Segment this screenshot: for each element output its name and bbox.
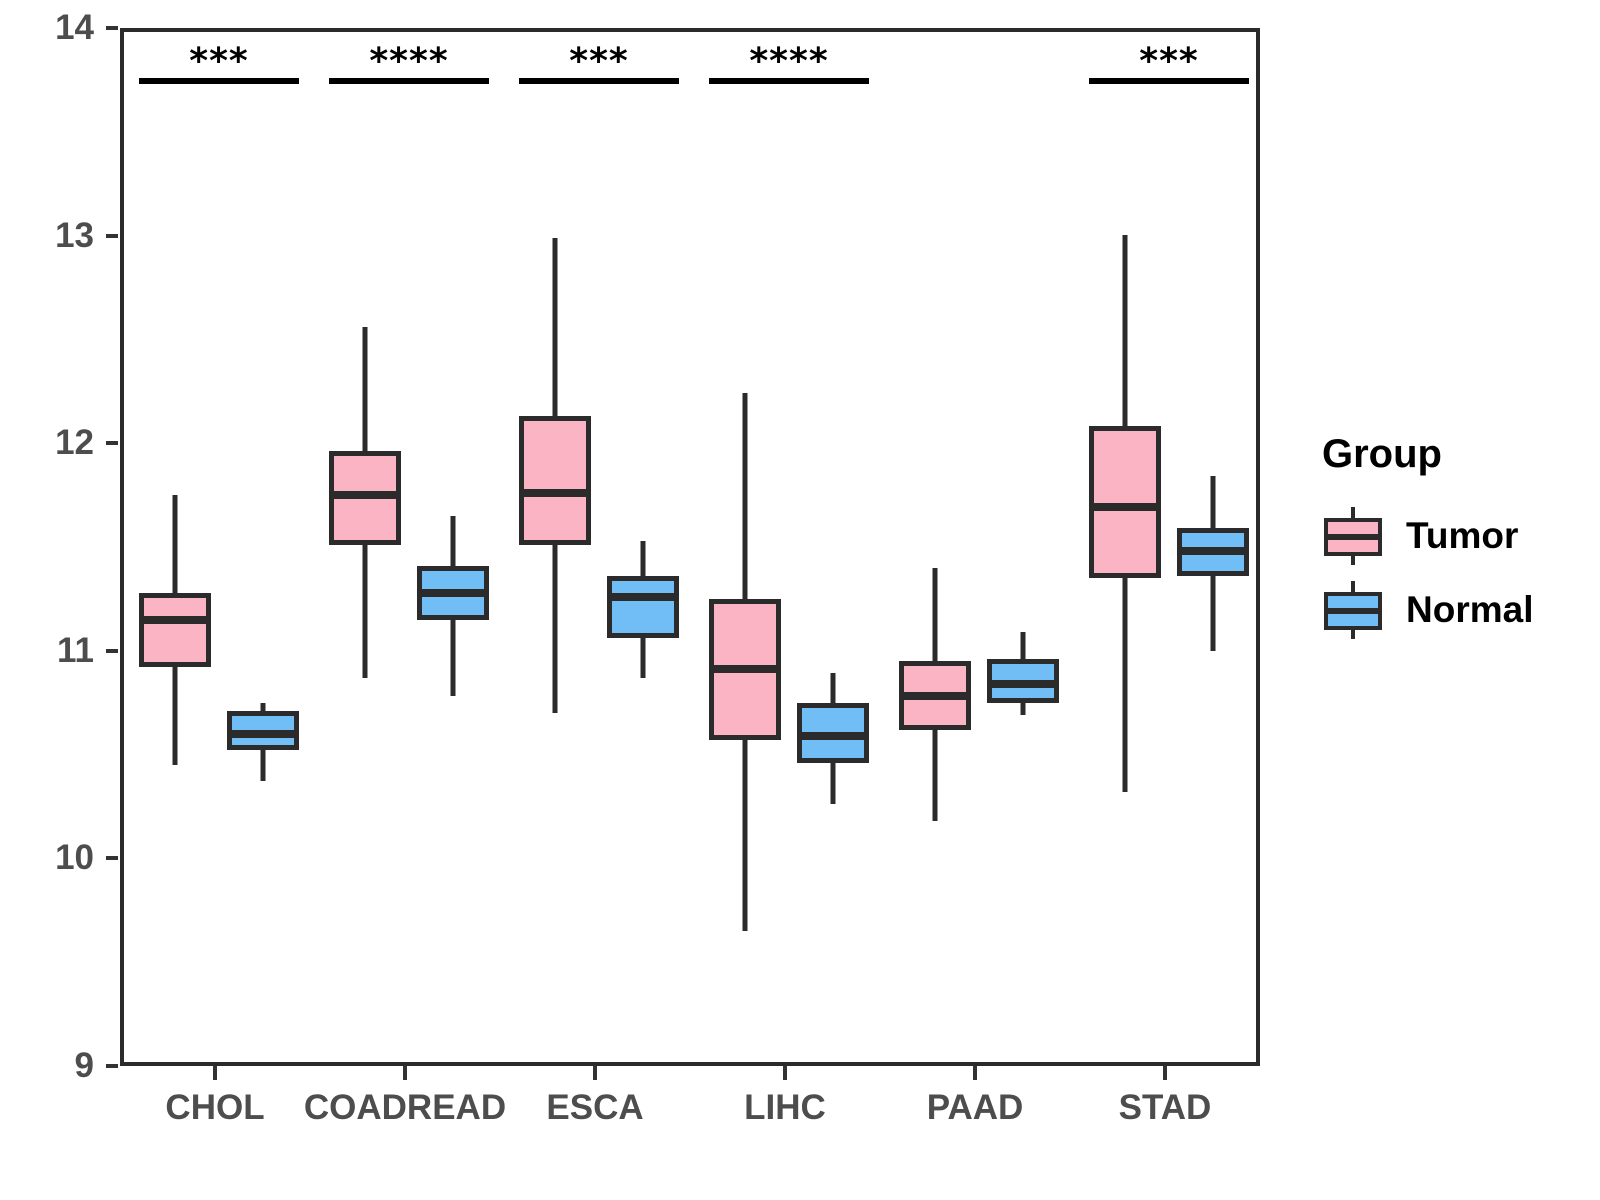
x-tick-mark [593,1066,597,1080]
x-tick-label-lihc: LIHC [744,1088,826,1128]
y-tick-label: 12 [36,423,94,463]
x-tick-mark [403,1066,407,1080]
y-tick-label: 11 [36,631,94,671]
x-tick-label-stad: STAD [1119,1088,1212,1128]
y-tick-mark [106,649,118,653]
legend: Group Tumor Normal [1322,432,1592,647]
legend-key-normal [1322,579,1384,641]
plot-panel: ***************** [120,28,1260,1066]
y-tick-label: 13 [36,216,94,256]
y-tick-mark [106,1064,118,1068]
legend-item-tumor[interactable]: Tumor [1322,499,1592,573]
boxplot-normal-stad[interactable] [124,32,1256,1062]
x-tick-label-coadread: COADREAD [304,1088,506,1128]
legend-median-icon [1324,608,1382,614]
legend-key-tumor [1322,505,1384,567]
legend-label-tumor: Tumor [1406,515,1518,557]
y-tick-mark [106,856,118,860]
x-tick-mark [973,1066,977,1080]
significance-label: *** [189,44,248,80]
legend-item-normal[interactable]: Normal [1322,573,1592,647]
significance-label: *** [569,44,628,80]
x-tick-label-paad: PAAD [927,1088,1024,1128]
legend-title: Group [1322,432,1592,477]
significance-label: **** [369,44,448,80]
y-tick-mark [106,234,118,238]
y-tick-label: 9 [36,1046,94,1086]
median-line [1177,547,1249,555]
x-tick-mark [1163,1066,1167,1080]
x-tick-mark [783,1066,787,1080]
y-tick-mark [106,441,118,445]
significance-label: *** [1139,44,1198,80]
x-tick-label-esca: ESCA [546,1088,643,1128]
x-tick-label-chol: CHOL [165,1088,264,1128]
boxplot-figure: Gene Expression Level(log2 RSEM) 9101112… [0,0,1600,1200]
x-tick-mark [213,1066,217,1080]
y-tick-label: 14 [36,8,94,48]
plot-area: ***************** [124,32,1256,1062]
legend-median-icon [1324,534,1382,540]
significance-label: **** [749,44,828,80]
y-tick-mark [106,26,118,30]
y-tick-label: 10 [36,838,94,878]
legend-label-normal: Normal [1406,589,1533,631]
